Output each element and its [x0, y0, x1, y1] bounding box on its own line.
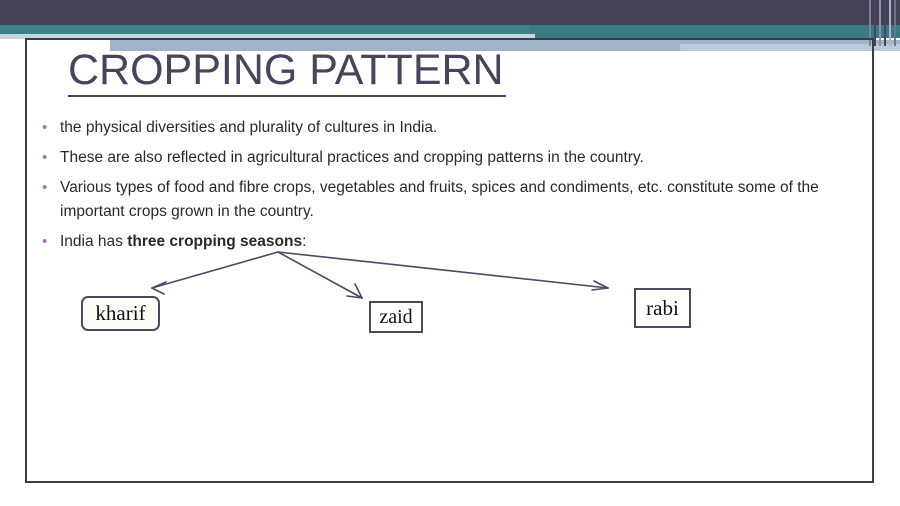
- slide-canvas: CROPPING PATTERN • the physical diversit…: [0, 0, 900, 506]
- list-item-text-suffix: :: [302, 233, 306, 250]
- list-item-text-prefix: India has: [60, 233, 127, 250]
- season-node-zaid: zaid: [369, 301, 423, 333]
- bullet-marker-icon: •: [38, 176, 60, 200]
- bullet-marker-icon: •: [38, 146, 60, 170]
- list-item-text: These are also reflected in agricultural…: [60, 146, 828, 170]
- header-stripe-3: [884, 0, 886, 46]
- header-stripe-5: [894, 0, 896, 46]
- list-item-text: Various types of food and fibre crops, v…: [60, 176, 828, 224]
- title-underline: [68, 95, 506, 97]
- list-item-text-emphasis: three cropping seasons: [127, 233, 302, 250]
- bullet-list: • the physical diversities and plurality…: [38, 116, 828, 260]
- bullet-marker-icon: •: [38, 230, 60, 254]
- header-stripe-2: [879, 0, 881, 46]
- header-band-teal-accent: [530, 25, 900, 38]
- slide-frame: [25, 38, 874, 483]
- header-stripe-4: [889, 0, 891, 46]
- bullet-marker-icon: •: [38, 116, 60, 140]
- list-item: • These are also reflected in agricultur…: [38, 146, 828, 170]
- header-stripe-1: [874, 0, 876, 46]
- list-item: • Various types of food and fibre crops,…: [38, 176, 828, 224]
- list-item: • the physical diversities and plurality…: [38, 116, 828, 140]
- header-band-dark: [0, 0, 900, 25]
- list-item-text: the physical diversities and plurality o…: [60, 116, 828, 140]
- list-item: • India has three cropping seasons:: [38, 230, 828, 254]
- season-node-kharif: kharif: [81, 296, 160, 331]
- page-title: CROPPING PATTERN: [68, 48, 504, 93]
- season-node-rabi: rabi: [634, 288, 691, 328]
- list-item-text-rich: India has three cropping seasons:: [60, 230, 828, 254]
